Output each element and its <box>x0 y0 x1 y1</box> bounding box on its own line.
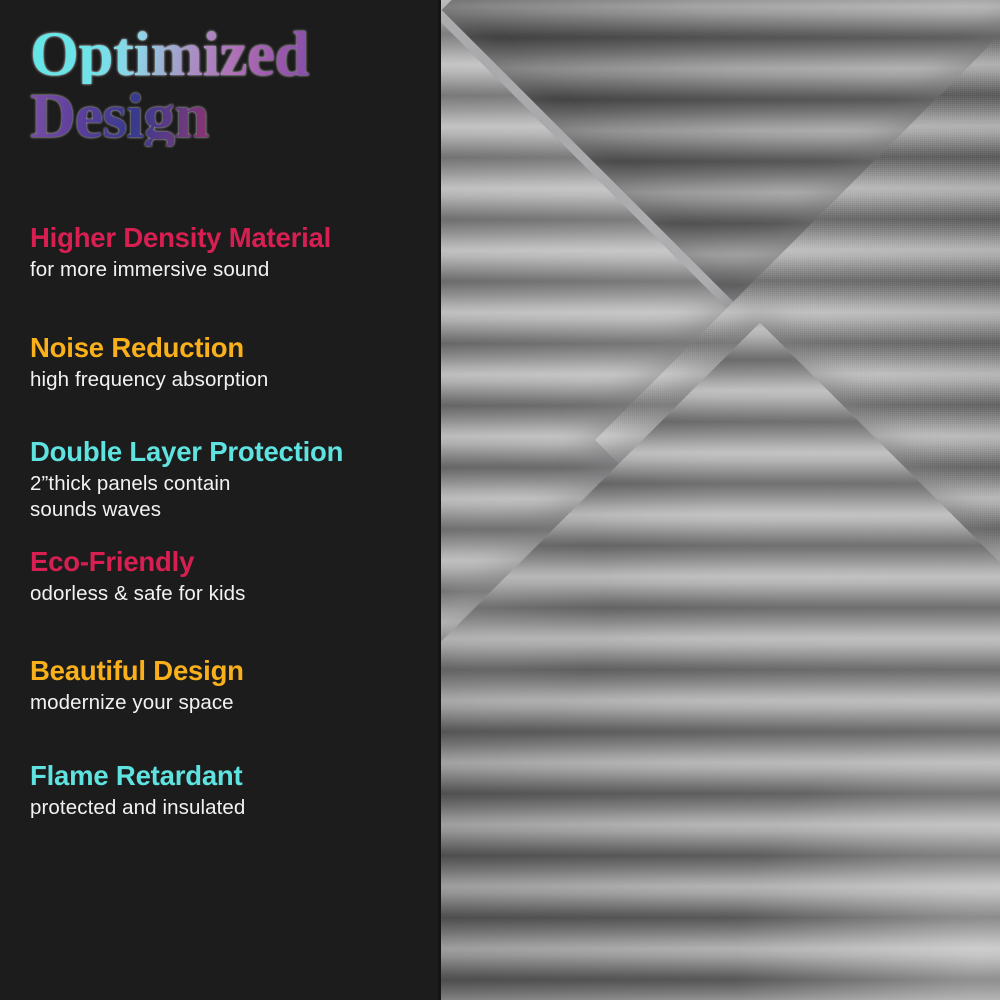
title-line-2: Design <box>30 88 440 146</box>
feature-subtitle-line-1: 2”thick panels contain <box>30 471 440 497</box>
feature-item-noise-reduction: Noise Reduction high frequency absorptio… <box>30 332 440 393</box>
feature-item-higher-density-material: Higher Density Material for more immersi… <box>30 222 440 283</box>
feature-subtitle-line-2: sounds waves <box>30 497 440 523</box>
feature-list-panel: Optimized Design Higher Density Material… <box>0 0 440 1000</box>
feature-subtitle: high frequency absorption <box>30 367 440 393</box>
page-title: Optimized Design <box>30 26 440 146</box>
panel-photo-divider <box>438 0 441 1000</box>
feature-item-flame-retardant: Flame Retardant protected and insulated <box>30 760 440 821</box>
feature-heading: Double Layer Protection <box>30 436 440 468</box>
feature-subtitle: for more immersive sound <box>30 257 440 283</box>
feature-heading: Flame Retardant <box>30 760 440 792</box>
feature-item-eco-friendly: Eco-Friendly odorless & safe for kids <box>30 546 440 607</box>
feature-item-beautiful-design: Beautiful Design modernize your space <box>30 655 440 716</box>
feature-subtitle: odorless & safe for kids <box>30 581 440 607</box>
product-feature-graphic: Optimized Design Higher Density Material… <box>0 0 1000 1000</box>
title-line-1: Optimized <box>30 26 440 84</box>
feature-heading: Noise Reduction <box>30 332 440 364</box>
feature-item-double-layer-protection: Double Layer Protection 2”thick panels c… <box>30 436 440 523</box>
feature-heading: Eco-Friendly <box>30 546 440 578</box>
feature-heading: Higher Density Material <box>30 222 440 254</box>
feature-list: Higher Density Material for more immersi… <box>30 222 440 821</box>
feature-subtitle: modernize your space <box>30 690 440 716</box>
feature-subtitle: protected and insulated <box>30 795 440 821</box>
acoustic-foam-photo <box>440 0 1000 1000</box>
feature-heading: Beautiful Design <box>30 655 440 687</box>
